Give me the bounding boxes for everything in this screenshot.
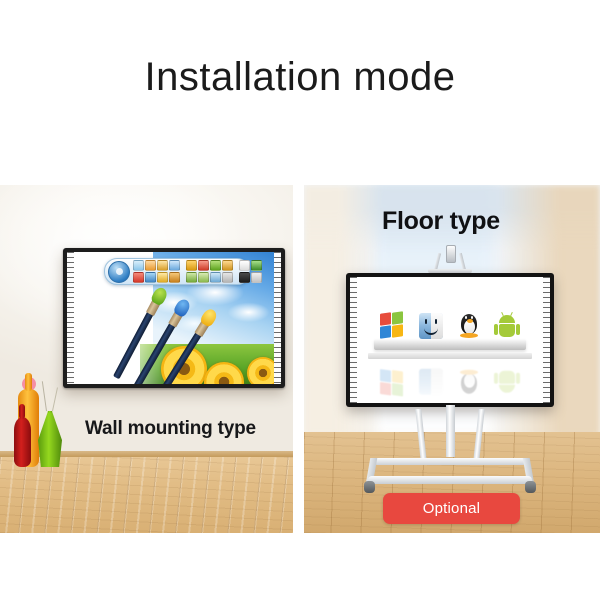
highlighter-icon[interactable] xyxy=(222,260,233,271)
wall-mounted-whiteboard[interactable] xyxy=(63,248,285,388)
optional-badge-label: Optional xyxy=(423,500,480,517)
save-icon[interactable] xyxy=(157,260,168,271)
caption-wall-mounting: Wall mounting type xyxy=(85,418,256,440)
display-screen xyxy=(350,277,550,403)
os-logo-reflection xyxy=(374,358,526,396)
eraser-icon[interactable] xyxy=(186,272,197,283)
windows-logo-icon xyxy=(380,312,406,340)
toolbar-group-files[interactable] xyxy=(133,260,180,283)
bezel-ruler-left xyxy=(350,277,357,403)
android-robot-icon xyxy=(494,312,520,340)
screenshot-icon[interactable] xyxy=(145,272,156,283)
caption-floor-type: Floor type xyxy=(382,207,500,236)
camera-mount-icon xyxy=(428,245,472,275)
shape-icon[interactable] xyxy=(198,272,209,283)
open-file-icon[interactable] xyxy=(145,260,156,271)
os-shelf xyxy=(374,339,526,350)
blackboard-icon[interactable] xyxy=(239,272,250,283)
os-logo-row xyxy=(374,295,526,340)
caster-wheel xyxy=(364,481,375,493)
linux-tux-icon xyxy=(456,312,482,340)
panel-floor-type[interactable]: Floor type xyxy=(304,185,600,533)
line-tool-icon[interactable] xyxy=(210,272,221,283)
wood-floor xyxy=(0,457,293,533)
pen-yellow-icon[interactable] xyxy=(186,260,197,271)
whiteboard-toolbar[interactable] xyxy=(104,258,250,285)
grid-view-icon[interactable] xyxy=(251,272,262,283)
pen-green-icon[interactable] xyxy=(210,260,221,271)
toolbar-logo-icon[interactable] xyxy=(108,261,130,283)
record-icon[interactable] xyxy=(133,272,144,283)
pen-red-icon[interactable] xyxy=(198,260,209,271)
bezel-ruler-right xyxy=(274,252,281,384)
print-icon[interactable] xyxy=(169,260,180,271)
optional-badge: Optional xyxy=(383,493,520,524)
page-title: Installation mode xyxy=(0,55,600,100)
vase-red xyxy=(14,417,31,467)
select-tool-icon[interactable] xyxy=(222,272,233,283)
page-root: Installation mode xyxy=(0,0,600,600)
bezel-ruler-left xyxy=(67,252,74,384)
toolbar-group-view[interactable] xyxy=(239,260,262,283)
new-page-icon[interactable] xyxy=(133,260,144,271)
floor-stand-display[interactable] xyxy=(346,273,554,407)
caster-wheel xyxy=(525,481,536,493)
toolbar-group-pens[interactable] xyxy=(186,260,233,283)
panel-wall-mounting[interactable]: Wall mounting type xyxy=(0,185,293,533)
mac-finder-icon xyxy=(418,312,444,340)
toolbox-icon[interactable] xyxy=(169,272,180,283)
page-white-icon[interactable] xyxy=(239,260,250,271)
mobile-trolley-stand xyxy=(346,405,554,505)
whiteboard-screen xyxy=(67,252,281,384)
lock-icon[interactable] xyxy=(251,260,262,271)
bezel-ruler-right xyxy=(543,277,550,403)
folder-icon[interactable] xyxy=(157,272,168,283)
